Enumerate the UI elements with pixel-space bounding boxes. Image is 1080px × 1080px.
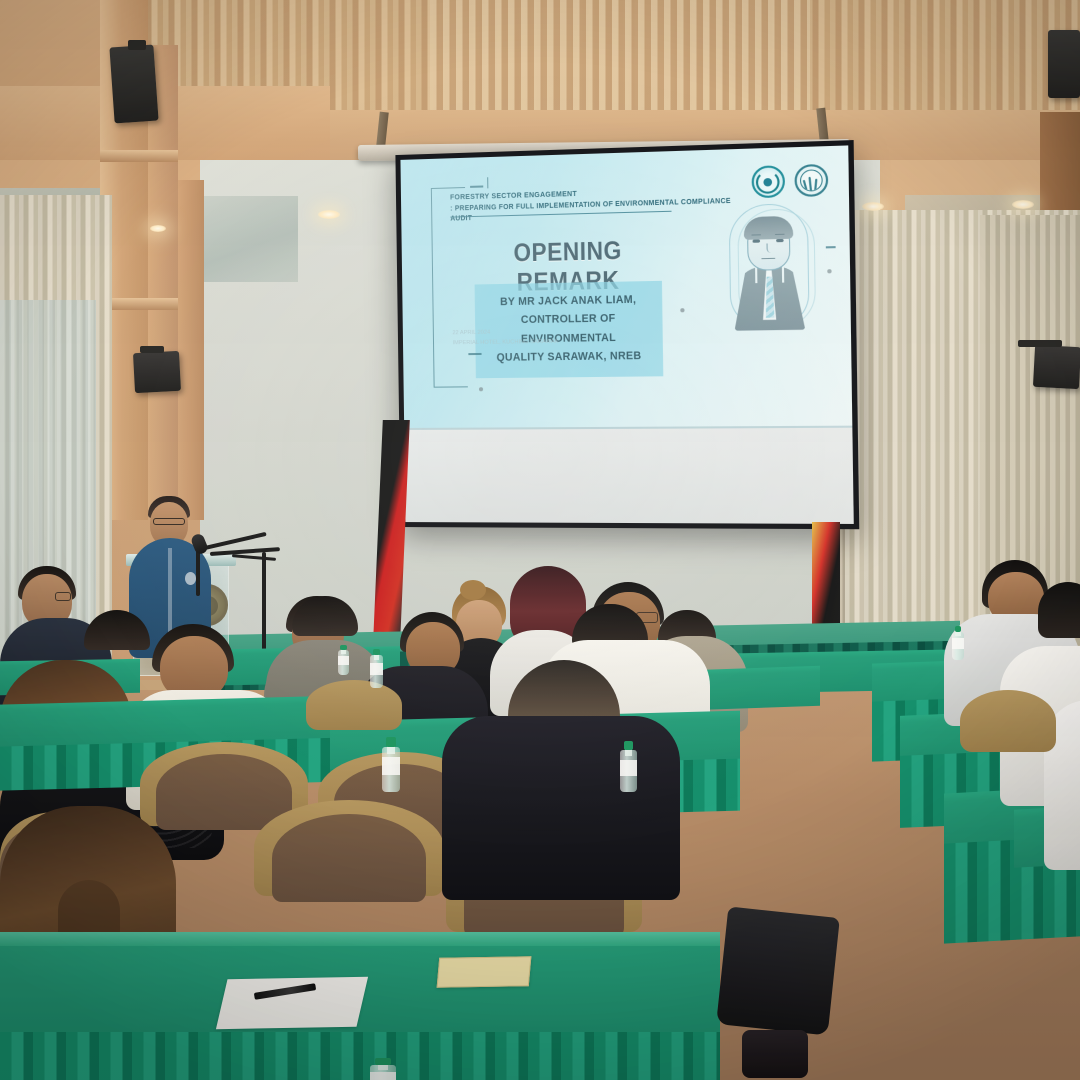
speaker-bracket-left bbox=[140, 346, 164, 353]
wall-speaker-right bbox=[1033, 345, 1080, 389]
portrait-nose bbox=[766, 243, 770, 252]
slide-decor-tick-bottom bbox=[468, 353, 481, 355]
ceiling-downlight-3 bbox=[1012, 200, 1034, 209]
mineral-water-bottle-4 bbox=[952, 624, 964, 660]
speaker-bracket-right bbox=[1018, 340, 1062, 347]
slide-footer: 22 APRIL 2024 IMPERIAL HOTEL, KUCHING SA… bbox=[452, 325, 655, 348]
mineral-water-bottle-5 bbox=[370, 1056, 396, 1080]
mineral-water-bottle-2 bbox=[382, 734, 400, 792]
slide-decor-tick-right bbox=[826, 247, 836, 249]
slide-decor-dot-center bbox=[680, 308, 684, 312]
presenter-glasses bbox=[153, 518, 185, 525]
mineral-water-bottle-3 bbox=[620, 738, 637, 792]
mineral-water-bottle-6 bbox=[338, 643, 349, 675]
projection-screen: FORESTRY SECTOR ENGAGEMENT : PREPARING F… bbox=[395, 140, 859, 529]
speaker-bracket-upper-left bbox=[128, 40, 146, 50]
yellow-notepad bbox=[437, 956, 532, 988]
banquet-chair-7 bbox=[960, 690, 1056, 752]
attendee-shoe bbox=[742, 1030, 808, 1078]
slide-subtitle-line3: QUALITY SARAWAK, NREB bbox=[481, 347, 658, 368]
conference-hall-photo: FORESTRY SECTOR ENGAGEMENT : PREPARING F… bbox=[0, 0, 1080, 1080]
foreground-table-edge bbox=[0, 932, 720, 946]
slide-decor-dot-right bbox=[827, 269, 831, 273]
slide-decor-dot-left bbox=[479, 387, 483, 391]
column-band-1 bbox=[100, 150, 178, 162]
portrait-eye-right bbox=[776, 239, 784, 242]
wall-speaker-upper-left bbox=[109, 45, 158, 124]
banquet-chair-3-back bbox=[272, 814, 426, 902]
attendee-hair-bun-knot bbox=[460, 580, 486, 600]
attendee-torso bbox=[442, 716, 680, 900]
wall-speaker-upper-right bbox=[1048, 30, 1080, 98]
mineral-water-bottle-1 bbox=[370, 646, 383, 688]
slide-subtitle-line1: BY MR JACK ANAK LIAM, bbox=[481, 290, 658, 312]
portrait-eye-left bbox=[752, 239, 760, 242]
microphone-stem-1 bbox=[196, 548, 200, 596]
forestry-department-logo-icon bbox=[794, 164, 828, 197]
attendee-bag bbox=[716, 906, 840, 1035]
banquet-chair-8 bbox=[306, 680, 402, 730]
presenter-badge bbox=[185, 572, 196, 585]
ceiling-fluted-panel-secondary bbox=[430, 0, 810, 112]
slide-decor-tick-top-v bbox=[487, 177, 489, 188]
slide-logos bbox=[751, 164, 828, 198]
ceiling-downlight-4 bbox=[150, 225, 166, 232]
slide-decor-tick-top bbox=[470, 186, 483, 188]
speaker-portrait-illustration bbox=[724, 202, 818, 335]
ceiling-downlight-1 bbox=[318, 210, 340, 219]
column-left-c bbox=[178, 180, 204, 520]
screen-lower-blank-area bbox=[404, 426, 854, 524]
nreb-logo-icon bbox=[751, 166, 785, 199]
foreground-table-skirt bbox=[0, 1032, 720, 1080]
presentation-slide: FORESTRY SECTOR ENGAGEMENT : PREPARING F… bbox=[400, 145, 852, 427]
presenter-shirt-placket bbox=[168, 548, 172, 640]
wall-speaker-left bbox=[133, 351, 181, 393]
note-paper bbox=[216, 977, 368, 1029]
ceiling-downlight-2 bbox=[862, 202, 884, 211]
portrait-hair bbox=[744, 215, 794, 239]
attendee-glasses bbox=[55, 592, 71, 601]
